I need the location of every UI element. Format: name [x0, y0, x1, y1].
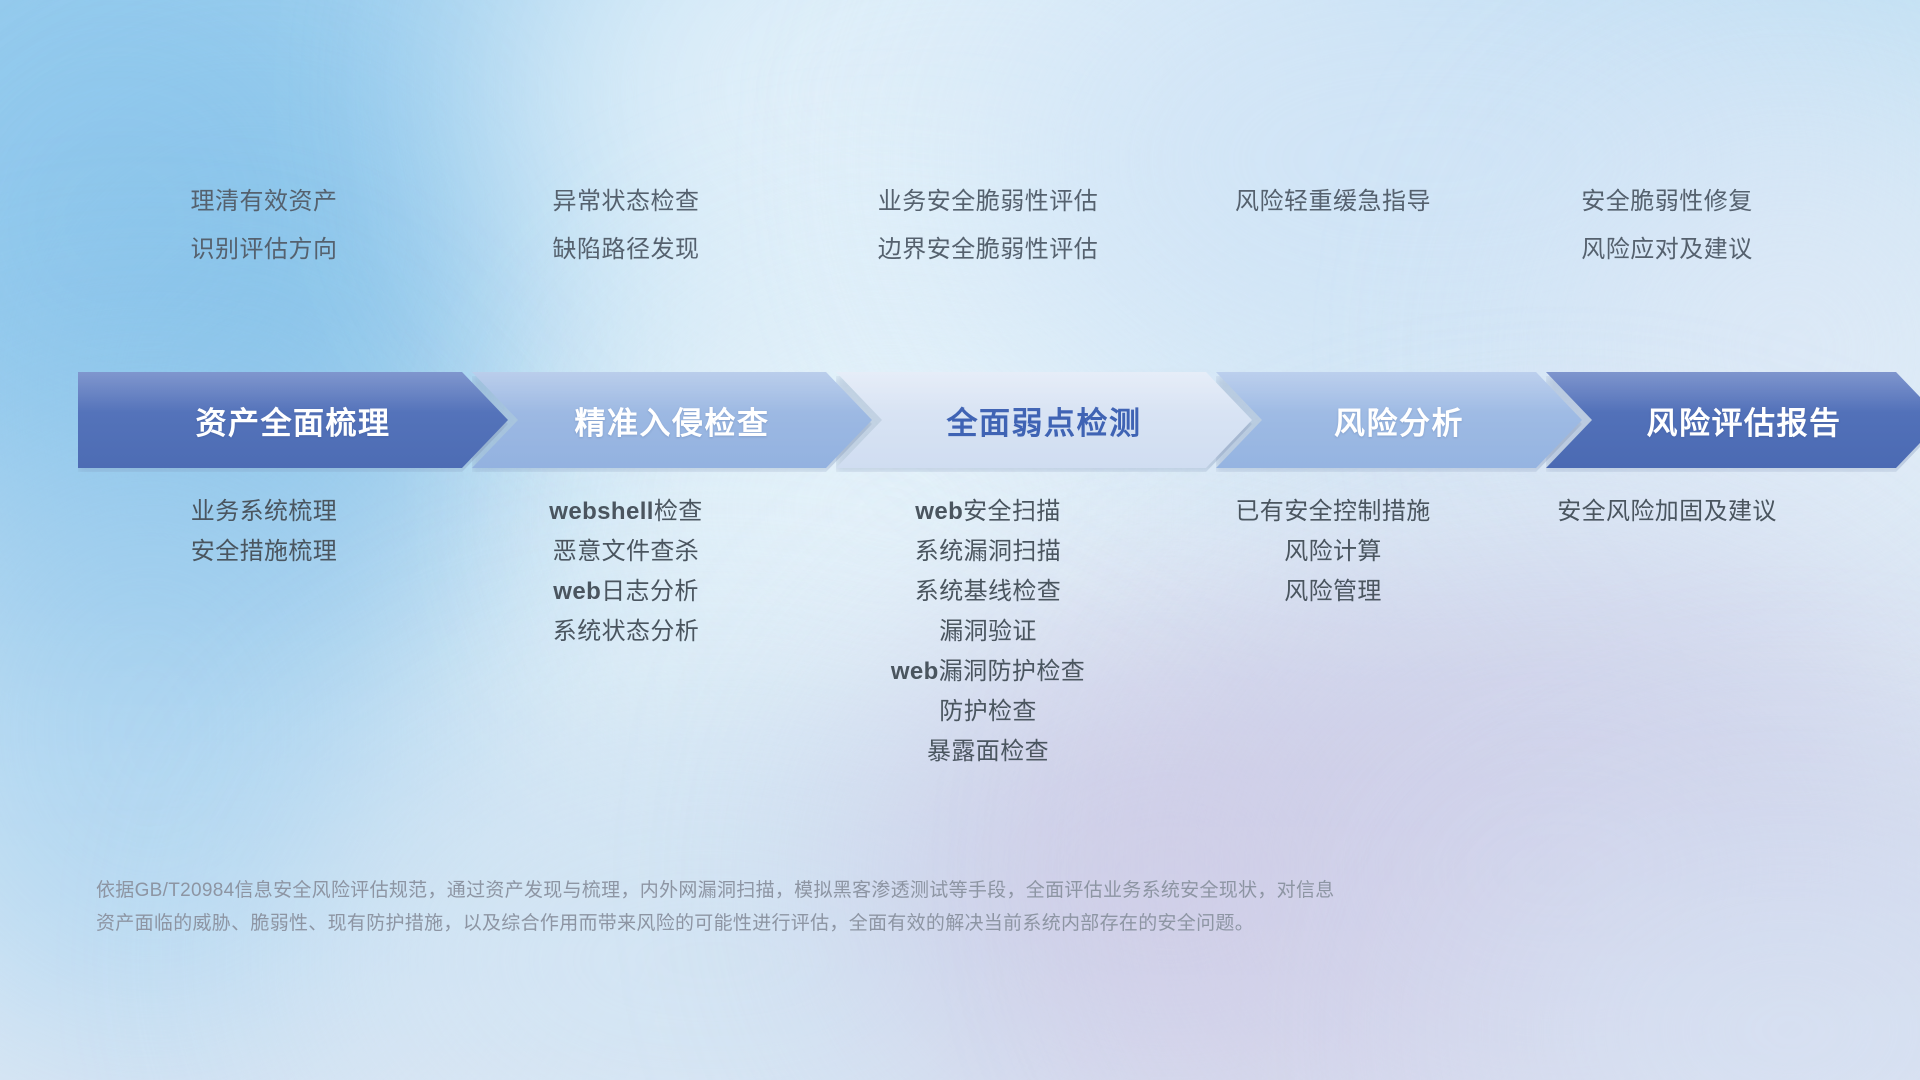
list-item: 系统状态分析 — [450, 612, 802, 652]
list-item-text: 业务系统梳理 — [191, 498, 337, 525]
list-item: 异常状态检查 — [450, 178, 802, 226]
list-item-text: 日志分析 — [601, 578, 699, 605]
list-item-text: 风险计算 — [1284, 538, 1382, 565]
bottom-lists-row: 业务系统梳理 安全措施梳理 webshell检查 恶意文件查杀 web日志分析 … — [78, 492, 1842, 772]
list-item-text: 恶意文件查杀 — [553, 538, 699, 565]
list-item: 安全脆弱性修复 — [1492, 178, 1842, 226]
chevron-stage-5-label: 风险评估报告 — [1647, 398, 1842, 443]
list-item-text: 安全扫描 — [963, 498, 1061, 525]
list-item: 风险应对及建议 — [1492, 226, 1842, 274]
stage-4-top-list: 风险轻重缓急指导 — [1174, 178, 1492, 226]
stage-column-2: 异常状态检查 缺陷路径发现 — [450, 178, 802, 274]
list-item: 安全措施梳理 — [78, 532, 450, 572]
chevron-stage-3[interactable]: 全面弱点检测 — [836, 372, 1252, 468]
stage-column-3: 业务安全脆弱性评估 边界安全脆弱性评估 — [802, 178, 1174, 274]
list-item: 漏洞验证 — [802, 612, 1174, 652]
list-item: 识别评估方向 — [78, 226, 450, 274]
stage-1-top-list: 理清有效资产 识别评估方向 — [78, 178, 450, 274]
footer-description: 依据GB/T20984信息安全风险评估规范，通过资产发现与梳理，内外网漏洞扫描，… — [96, 874, 1616, 940]
list-item-text: 漏洞验证 — [939, 618, 1037, 645]
list-item-prefix: web — [553, 578, 601, 605]
list-item: 防护检查 — [802, 692, 1174, 732]
list-item-text: 安全措施梳理 — [191, 538, 337, 565]
footer-line-1: 依据GB/T20984信息安全风险评估规范，通过资产发现与梳理，内外网漏洞扫描，… — [96, 874, 1616, 907]
list-item: webshell检查 — [450, 492, 802, 532]
chevron-stage-3-label: 全面弱点检测 — [947, 398, 1142, 443]
chevron-stage-5[interactable]: 风险评估报告 — [1546, 372, 1920, 468]
list-item: web安全扫描 — [802, 492, 1174, 532]
list-item-text: 系统漏洞扫描 — [915, 538, 1061, 565]
stage-column-5-detail: 安全风险加固及建议 — [1492, 492, 1842, 772]
list-item: 风险管理 — [1174, 572, 1492, 612]
stage-5-top-list: 安全脆弱性修复 风险应对及建议 — [1492, 178, 1842, 274]
list-item-text: 漏洞防护检查 — [939, 658, 1085, 685]
list-item-text: 防护检查 — [939, 698, 1037, 725]
list-item-text: 安全风险加固及建议 — [1557, 498, 1777, 525]
list-item: 缺陷路径发现 — [450, 226, 802, 274]
list-item: 风险轻重缓急指导 — [1174, 178, 1492, 226]
top-lists-row: 理清有效资产 识别评估方向 异常状态检查 缺陷路径发现 业务安全脆弱性评估 边界… — [78, 178, 1842, 274]
stage-5-bottom-list: 安全风险加固及建议 — [1492, 492, 1842, 532]
process-diagram: 理清有效资产 识别评估方向 异常状态检查 缺陷路径发现 业务安全脆弱性评估 边界… — [0, 0, 1920, 1080]
stage-3-top-list: 业务安全脆弱性评估 边界安全脆弱性评估 — [802, 178, 1174, 274]
stage-2-bottom-list: webshell检查 恶意文件查杀 web日志分析 系统状态分析 — [450, 492, 802, 652]
list-item-text: 系统状态分析 — [553, 618, 699, 645]
stage-column-4: 风险轻重缓急指导 — [1174, 178, 1492, 274]
list-item-text: 暴露面检查 — [927, 738, 1049, 765]
stage-4-bottom-list: 已有安全控制措施 风险计算 风险管理 — [1174, 492, 1492, 612]
stage-column-4-detail: 已有安全控制措施 风险计算 风险管理 — [1174, 492, 1492, 772]
chevron-stage-2-label: 精准入侵检查 — [575, 398, 770, 443]
list-item-text: 系统基线检查 — [915, 578, 1061, 605]
list-item: 风险计算 — [1174, 532, 1492, 572]
list-item-text: 风险管理 — [1284, 578, 1382, 605]
list-item: 已有安全控制措施 — [1174, 492, 1492, 532]
chevron-stage-1-label: 资产全面梳理 — [196, 398, 391, 443]
list-item: 业务安全脆弱性评估 — [802, 178, 1174, 226]
list-item-text: 检查 — [654, 498, 703, 525]
stage-3-bottom-list: web安全扫描 系统漏洞扫描 系统基线检查 漏洞验证 web漏洞防护检查 防护检… — [802, 492, 1174, 772]
chevron-stage-1[interactable]: 资产全面梳理 — [78, 372, 508, 468]
list-item: 理清有效资产 — [78, 178, 450, 226]
stage-column-1: 理清有效资产 识别评估方向 — [78, 178, 450, 274]
chevron-stage-4-label: 风险分析 — [1334, 398, 1464, 443]
process-chevron-band: 资产全面梳理 精准入侵检查 全面弱点检测 风险分析 风险评估报告 — [78, 372, 1848, 468]
list-item-prefix: web — [915, 498, 963, 525]
list-item: 边界安全脆弱性评估 — [802, 226, 1174, 274]
stage-column-5: 安全脆弱性修复 风险应对及建议 — [1492, 178, 1842, 274]
stage-2-top-list: 异常状态检查 缺陷路径发现 — [450, 178, 802, 274]
list-item: 安全风险加固及建议 — [1492, 492, 1842, 532]
list-item: 恶意文件查杀 — [450, 532, 802, 572]
stage-1-bottom-list: 业务系统梳理 安全措施梳理 — [78, 492, 450, 572]
list-item: web漏洞防护检查 — [802, 652, 1174, 692]
chevron-stage-2[interactable]: 精准入侵检查 — [472, 372, 872, 468]
footer-line-2: 资产面临的威胁、脆弱性、现有防护措施，以及综合作用而带来风险的可能性进行评估，全… — [96, 907, 1616, 940]
list-item-text: 已有安全控制措施 — [1235, 498, 1430, 525]
list-item-prefix: webshell — [549, 498, 654, 525]
stage-column-3-detail: web安全扫描 系统漏洞扫描 系统基线检查 漏洞验证 web漏洞防护检查 防护检… — [802, 492, 1174, 772]
chevron-stage-4[interactable]: 风险分析 — [1216, 372, 1582, 468]
list-item: 系统基线检查 — [802, 572, 1174, 612]
list-item-prefix: web — [891, 658, 939, 685]
stage-column-2-detail: webshell检查 恶意文件查杀 web日志分析 系统状态分析 — [450, 492, 802, 772]
list-item: 系统漏洞扫描 — [802, 532, 1174, 572]
stage-column-1-detail: 业务系统梳理 安全措施梳理 — [78, 492, 450, 772]
list-item: 暴露面检查 — [802, 732, 1174, 772]
list-item: 业务系统梳理 — [78, 492, 450, 532]
list-item: web日志分析 — [450, 572, 802, 612]
